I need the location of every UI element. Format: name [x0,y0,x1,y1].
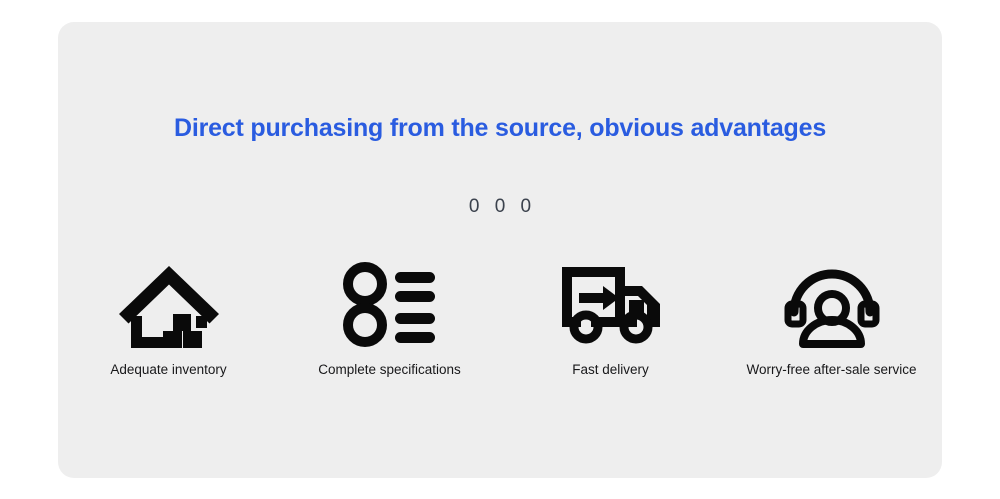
specification-list-icon [343,260,437,348]
delivery-truck-icon [559,260,663,348]
headset-support-icon [782,260,882,348]
feature-label: Worry-free after-sale service [746,362,916,377]
warehouse-icon [117,260,221,348]
page-root: Direct purchasing from the source, obvio… [0,0,1000,499]
feature-item-delivery: Fast delivery [500,260,721,377]
feature-label: Fast delivery [572,362,649,377]
feature-item-inventory: Adequate inventory [58,260,279,377]
feature-list: Adequate inventory [58,260,942,377]
feature-label: Adequate inventory [110,362,226,377]
feature-item-specifications: Complete specifications [279,260,500,377]
divider-ornament: 0 0 0 [58,194,942,220]
feature-label: Complete specifications [318,362,461,377]
feature-item-service: Worry-free after-sale service [721,260,942,377]
advantages-panel: Direct purchasing from the source, obvio… [58,22,942,478]
page-title: Direct purchasing from the source, obvio… [58,114,942,143]
